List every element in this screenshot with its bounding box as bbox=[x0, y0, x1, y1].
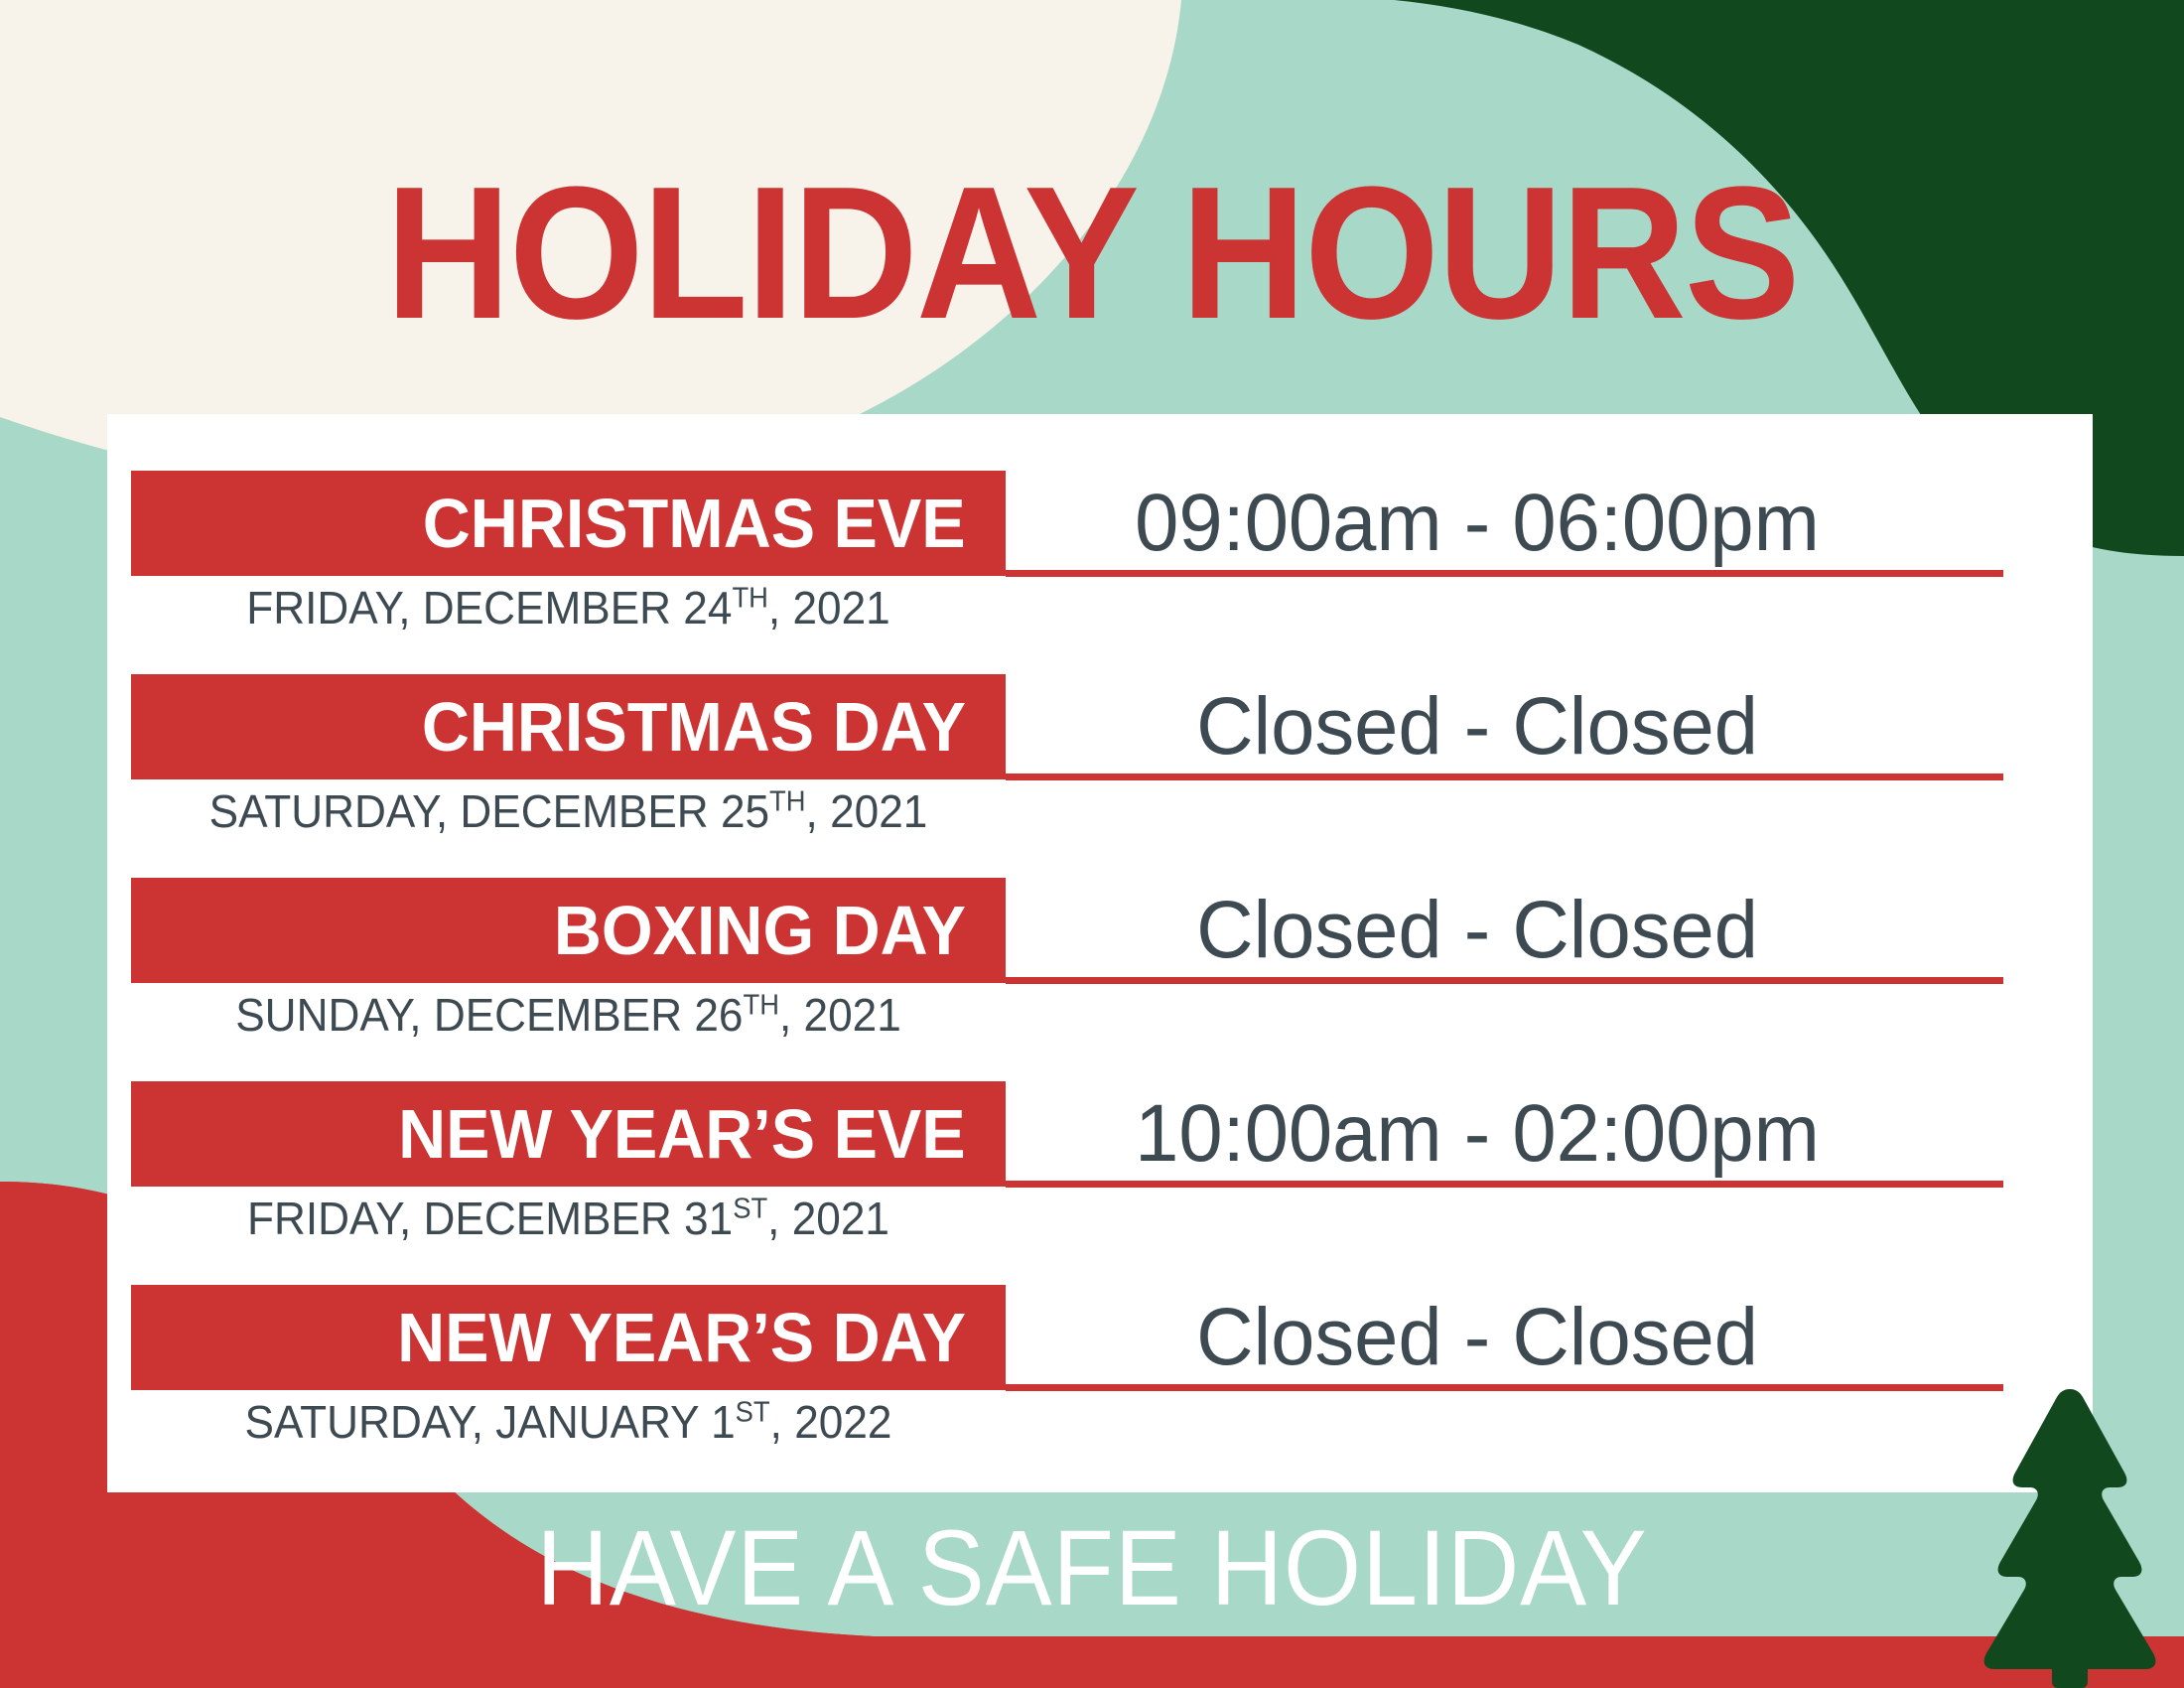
holiday-hours-group: 10:00am - 02:00pm bbox=[1006, 1081, 2003, 1187]
holiday-date-suffix: , 2021 bbox=[779, 989, 901, 1041]
holiday-hours-group: Closed - Closed bbox=[1006, 1285, 2003, 1390]
holiday-date-prefix: FRIDAY, DECEMBER 24 bbox=[246, 582, 732, 633]
holiday-date-suffix: , 2021 bbox=[767, 1193, 889, 1244]
holiday-name: NEW YEAR’S DAY bbox=[397, 1303, 966, 1372]
footer-message: HAVE A SAFE HOLIDAY bbox=[76, 1514, 2108, 1621]
holiday-date-suffix: , 2021 bbox=[768, 582, 890, 633]
holiday-date-prefix: SATURDAY, JANUARY 1 bbox=[245, 1396, 736, 1448]
schedule-rows: CHRISTMAS EVE FRIDAY, DECEMBER 24TH, 202… bbox=[107, 414, 2093, 1492]
holiday-name: NEW YEAR’S EVE bbox=[398, 1099, 966, 1169]
hours-underline bbox=[1006, 570, 2003, 577]
holiday-date: SATURDAY, DECEMBER 25TH, 2021 bbox=[149, 785, 989, 838]
holiday-date-suffix: , 2021 bbox=[806, 785, 928, 837]
page-title: HOLIDAY HOURS bbox=[87, 159, 2097, 348]
holiday-date-ordinal: ST bbox=[733, 1194, 767, 1225]
hours-underline bbox=[1006, 774, 2003, 780]
schedule-card: CHRISTMAS EVE FRIDAY, DECEMBER 24TH, 202… bbox=[107, 414, 2093, 1492]
holiday-name-band: CHRISTMAS DAY bbox=[131, 674, 1006, 779]
holiday-name-band: BOXING DAY bbox=[131, 878, 1006, 983]
holiday-date-ordinal: ST bbox=[736, 1397, 770, 1429]
holiday-hours: 09:00am - 06:00pm bbox=[1020, 483, 1935, 564]
holiday-name: BOXING DAY bbox=[554, 896, 966, 965]
schedule-row: NEW YEAR’S DAY SATURDAY, JANUARY 1ST, 20… bbox=[107, 1285, 2093, 1488]
holiday-name-band: NEW YEAR’S DAY bbox=[131, 1285, 1006, 1390]
holiday-hours-poster: HOLIDAY HOURS CHRISTMAS EVE FRIDAY, DECE… bbox=[0, 0, 2184, 1688]
holiday-hours-group: Closed - Closed bbox=[1006, 674, 2003, 779]
schedule-row: CHRISTMAS EVE FRIDAY, DECEMBER 24TH, 202… bbox=[107, 471, 2093, 674]
holiday-date: FRIDAY, DECEMBER 24TH, 2021 bbox=[149, 582, 989, 634]
holiday-hours: Closed - Closed bbox=[1020, 890, 1935, 971]
holiday-name: CHRISTMAS DAY bbox=[422, 692, 966, 762]
christmas-tree-icon bbox=[1971, 1385, 2169, 1688]
holiday-date: SUNDAY, DECEMBER 26TH, 2021 bbox=[149, 989, 989, 1042]
holiday-name: CHRISTMAS EVE bbox=[423, 489, 966, 558]
schedule-row: BOXING DAY SUNDAY, DECEMBER 26TH, 2021 C… bbox=[107, 878, 2093, 1081]
holiday-date-ordinal: TH bbox=[769, 786, 805, 818]
holiday-name-band: CHRISTMAS EVE bbox=[131, 471, 1006, 576]
holiday-name-band: NEW YEAR’S EVE bbox=[131, 1081, 1006, 1187]
holiday-date: FRIDAY, DECEMBER 31ST, 2021 bbox=[149, 1193, 989, 1245]
schedule-row: NEW YEAR’S EVE FRIDAY, DECEMBER 31ST, 20… bbox=[107, 1081, 2093, 1285]
holiday-hours-group: Closed - Closed bbox=[1006, 878, 2003, 983]
schedule-row: CHRISTMAS DAY SATURDAY, DECEMBER 25TH, 2… bbox=[107, 674, 2093, 878]
holiday-date-prefix: SATURDAY, DECEMBER 25 bbox=[209, 785, 769, 837]
holiday-date-prefix: FRIDAY, DECEMBER 31 bbox=[247, 1193, 733, 1244]
holiday-hours: Closed - Closed bbox=[1020, 1297, 1935, 1378]
holiday-date-suffix: , 2022 bbox=[770, 1396, 892, 1448]
holiday-date: SATURDAY, JANUARY 1ST, 2022 bbox=[149, 1396, 989, 1449]
holiday-hours-group: 09:00am - 06:00pm bbox=[1006, 471, 2003, 576]
holiday-hours: 10:00am - 02:00pm bbox=[1020, 1093, 1935, 1175]
hours-underline bbox=[1006, 1181, 2003, 1188]
holiday-date-ordinal: TH bbox=[743, 990, 778, 1022]
holiday-hours: Closed - Closed bbox=[1020, 686, 1935, 768]
holiday-date-ordinal: TH bbox=[732, 583, 767, 615]
hours-underline bbox=[1006, 1384, 2003, 1391]
holiday-date-prefix: SUNDAY, DECEMBER 26 bbox=[235, 989, 743, 1041]
hours-underline bbox=[1006, 977, 2003, 984]
